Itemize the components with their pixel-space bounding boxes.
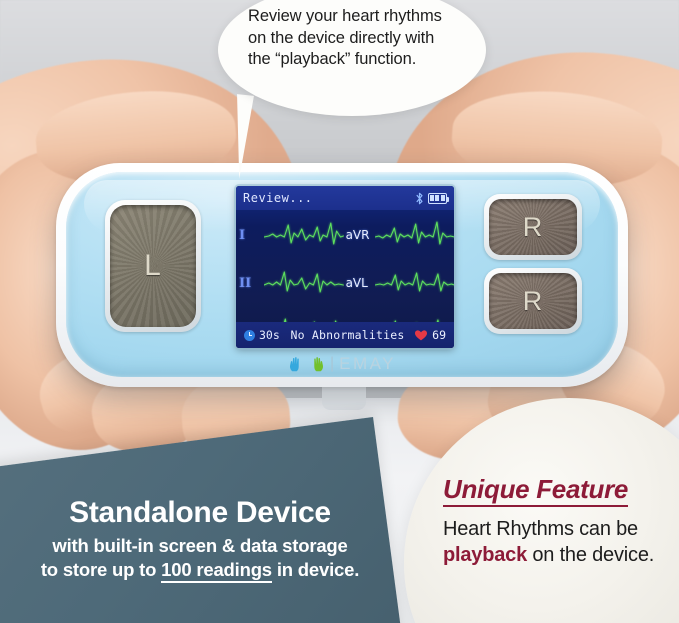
electrode-pad-left-bezel: L xyxy=(105,200,201,332)
screen-title: Review... xyxy=(243,191,313,205)
lead-label-II: II xyxy=(236,276,264,291)
lead-label-aVL: aVL xyxy=(344,276,375,290)
ecg-row-2: II aVL xyxy=(236,260,454,306)
ecg-waveform-area: I aVR II aVL III aVF xyxy=(236,210,454,322)
standalone-sub-post: in device. xyxy=(272,559,359,580)
electrode-pad-right-bottom-bezel: R xyxy=(484,268,582,334)
analysis-result: No Abnormalities xyxy=(290,328,404,342)
lead-label-I: I xyxy=(236,228,264,243)
poster-canvas: L R R Review... xyxy=(0,0,679,623)
callout-text: Review your heart rhythms on the device … xyxy=(248,6,460,71)
unique-feature-body: Heart Rhythms can be playback on the dev… xyxy=(443,516,675,568)
standalone-panel-text: Standalone Device with built-in screen &… xyxy=(0,496,400,582)
unique-feature-title: Unique Feature xyxy=(443,474,628,507)
duration-group: 30s xyxy=(244,328,280,342)
unique-feature-title-wrap: Unique Feature xyxy=(443,474,675,507)
unique-feature-body-bold: playback xyxy=(443,544,527,566)
electrode-pad-right-top-bezel: R xyxy=(484,194,582,260)
battery-icon xyxy=(428,193,447,204)
bluetooth-icon xyxy=(415,192,424,205)
screen-status-bar: 30s No Abnormalities 69 xyxy=(236,322,454,348)
ecg-row-1: I aVR xyxy=(236,212,454,258)
standalone-sub-pre: to store up to xyxy=(41,559,161,580)
electrode-pad-left-label: L xyxy=(144,249,162,283)
electrode-pad-left[interactable]: L xyxy=(110,205,196,327)
brand-name: EMAY xyxy=(339,354,396,374)
standalone-subtitle: with built-in screen & data storage to s… xyxy=(0,534,400,582)
standalone-sub-underlined: 100 readings xyxy=(161,559,272,583)
hand-blue-icon xyxy=(288,356,305,373)
electrode-pad-right-bottom[interactable]: R xyxy=(489,273,577,329)
unique-feature-body-post: on the device. xyxy=(527,544,654,566)
screen-title-bar: Review... xyxy=(236,186,454,210)
duration-value: 30s xyxy=(259,328,280,342)
screen-status-icons xyxy=(415,192,447,205)
brand-logo: | EMAY xyxy=(66,350,618,378)
device-screen[interactable]: Review... I aVR xyxy=(236,186,454,348)
clock-icon xyxy=(244,330,255,341)
ecg-device: L R R Review... xyxy=(56,163,628,387)
ecg-trace-II xyxy=(264,261,343,305)
unique-feature-text: Unique Feature Heart Rhythms can be play… xyxy=(443,474,675,568)
heart-rate-group: 69 xyxy=(415,328,446,342)
heart-icon xyxy=(415,330,427,341)
device-face: L R R Review... xyxy=(66,172,618,377)
standalone-title: Standalone Device xyxy=(0,496,400,530)
heart-rate-value: 69 xyxy=(432,328,446,342)
standalone-sub-line1: with built-in screen & data storage xyxy=(52,535,347,556)
lead-label-aVR: aVR xyxy=(344,228,375,242)
ecg-trace-I xyxy=(264,213,343,257)
ecg-trace-aVL xyxy=(375,261,454,305)
ecg-trace-aVR xyxy=(375,213,454,257)
unique-feature-body-pre: Heart Rhythms can be xyxy=(443,518,638,540)
brand-separator: | xyxy=(330,355,334,373)
electrode-pad-right-top-label: R xyxy=(523,212,544,243)
electrode-pad-right-top[interactable]: R xyxy=(489,199,577,255)
electrode-pad-right-bottom-label: R xyxy=(523,286,544,317)
hand-green-icon xyxy=(308,356,325,373)
